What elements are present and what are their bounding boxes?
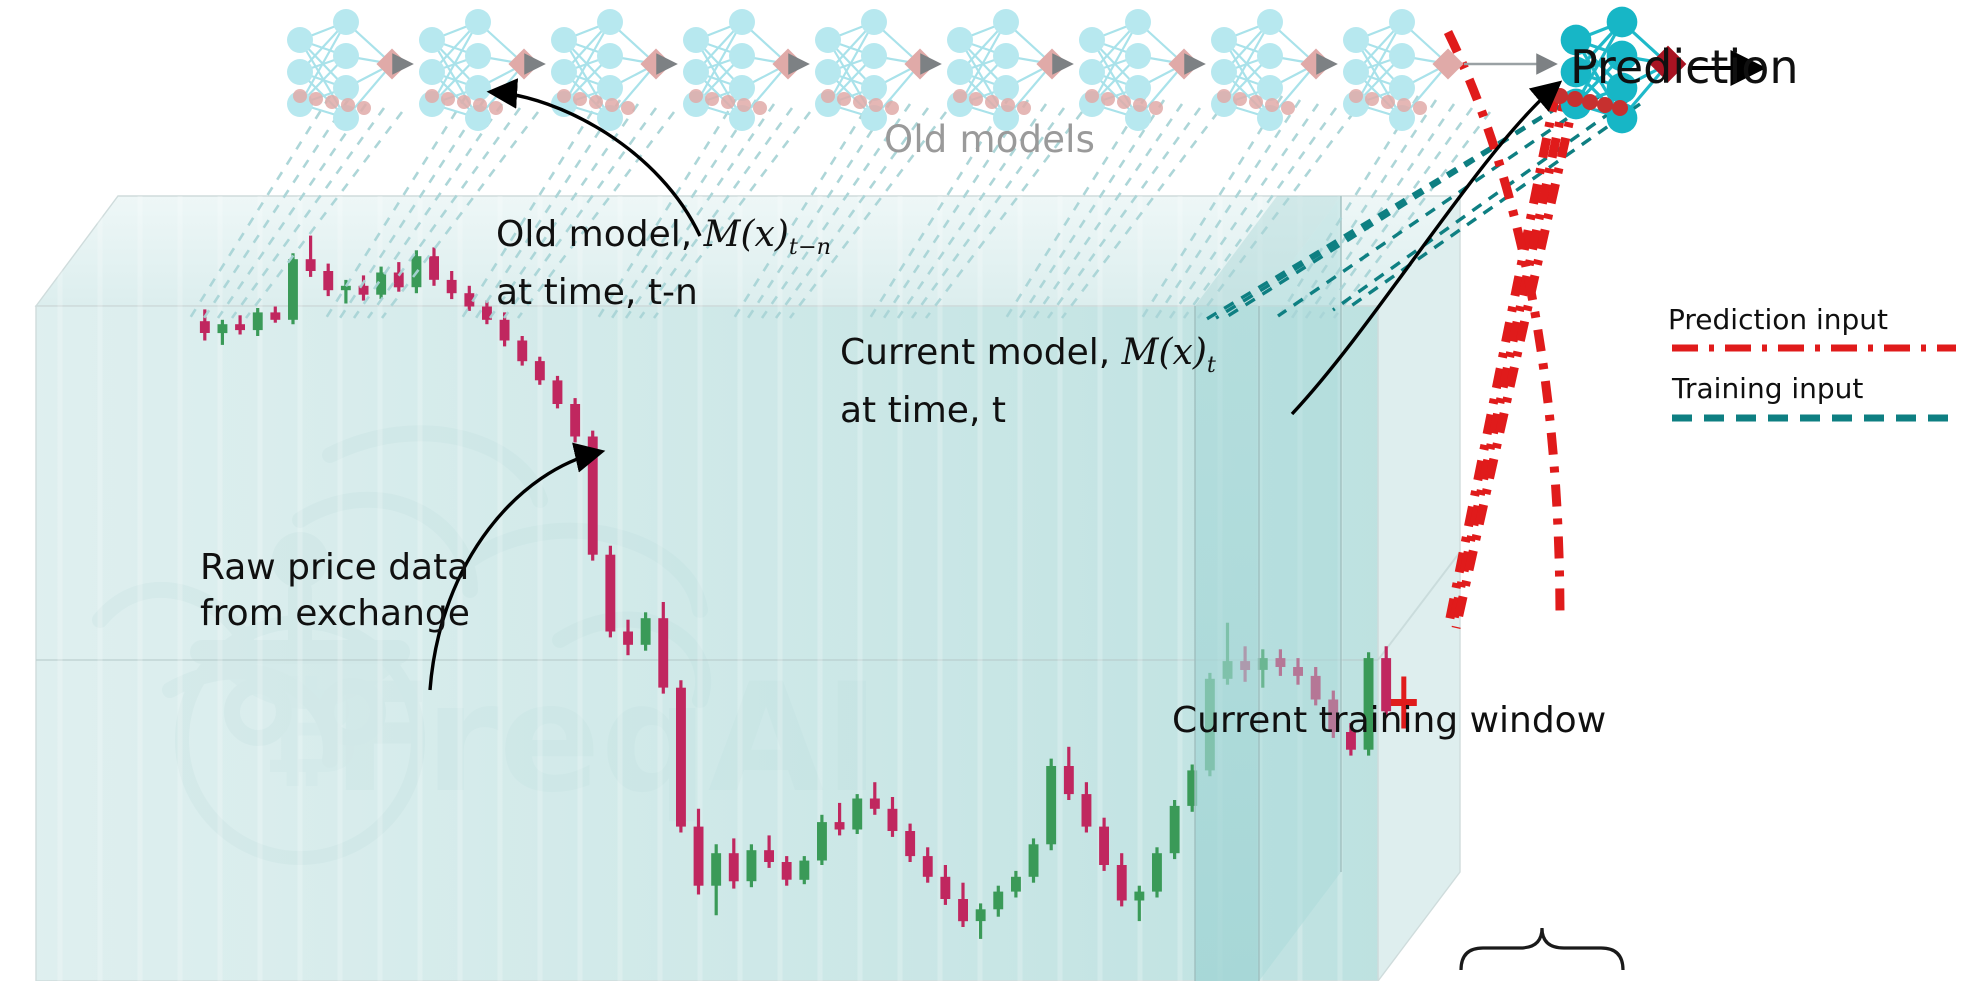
candle-body bbox=[641, 618, 651, 645]
legend-label-prediction-input: Prediction input bbox=[1668, 303, 1888, 336]
current-model-math-sub: t bbox=[1207, 352, 1216, 378]
candle-body bbox=[676, 688, 686, 827]
candle-body bbox=[429, 256, 439, 280]
candle-body bbox=[923, 856, 933, 877]
candle-body bbox=[447, 280, 457, 293]
model-chain bbox=[287, 7, 1686, 134]
candle-body bbox=[1029, 844, 1039, 877]
candle-body bbox=[729, 853, 739, 881]
candle-body bbox=[782, 862, 792, 880]
candle-body bbox=[1064, 766, 1074, 794]
training-window-brace bbox=[1461, 928, 1623, 970]
candle-body bbox=[799, 861, 809, 880]
current-training-window-label: Current training window bbox=[1172, 700, 1606, 741]
candle-body bbox=[1152, 853, 1162, 891]
candle-body bbox=[658, 618, 668, 687]
candle-body bbox=[253, 312, 263, 330]
raw-price-annotation: Raw price data from exchange bbox=[200, 545, 470, 637]
candle-body bbox=[870, 799, 880, 809]
candle-body bbox=[1134, 892, 1144, 901]
old-model-math-M: M bbox=[704, 214, 741, 255]
candle-body bbox=[976, 909, 986, 921]
candle-body bbox=[817, 822, 827, 860]
old-model-math-x: (x) bbox=[741, 214, 789, 255]
candle-body bbox=[1011, 877, 1021, 892]
current-model-math-x: (x) bbox=[1159, 332, 1207, 373]
candle-body bbox=[694, 827, 704, 886]
candle-body bbox=[835, 822, 845, 829]
legend-label-training-input: Training input bbox=[1672, 372, 1863, 405]
candle-body bbox=[605, 555, 615, 632]
old-model-network bbox=[419, 9, 542, 131]
candle-body bbox=[747, 850, 757, 881]
candle-body bbox=[993, 892, 1003, 910]
candle-body bbox=[218, 324, 228, 333]
current-model-math-M: M bbox=[1122, 332, 1159, 373]
candle-body bbox=[288, 259, 298, 320]
candle-body bbox=[958, 899, 968, 921]
candle-body bbox=[623, 632, 633, 645]
current-model-time: at time, t bbox=[840, 388, 1216, 434]
old-models-label: Old models bbox=[884, 118, 1095, 161]
candle-body bbox=[905, 831, 915, 856]
current-model-annotation: Current model, M(x)t at time, t bbox=[840, 330, 1216, 434]
old-model-network bbox=[815, 9, 938, 131]
old-model-network bbox=[947, 9, 1070, 131]
candle-body bbox=[1170, 806, 1180, 853]
candle-body bbox=[1117, 865, 1127, 901]
candle-body bbox=[500, 320, 510, 341]
old-model-text: Old model, bbox=[496, 214, 704, 255]
candle-body bbox=[235, 324, 245, 330]
candle-body bbox=[341, 286, 351, 290]
candle-body bbox=[517, 341, 527, 362]
candle-body bbox=[270, 312, 280, 319]
candle-body bbox=[535, 361, 545, 380]
old-model-network bbox=[1211, 9, 1334, 131]
candle-body bbox=[570, 404, 580, 437]
candle-body bbox=[323, 271, 333, 290]
old-model-annotation: Old model, M(x)t−n at time, t-n bbox=[496, 212, 831, 316]
candle-body bbox=[553, 380, 563, 404]
old-model-time: at time, t-n bbox=[496, 270, 831, 316]
candle-body bbox=[852, 799, 862, 830]
old-model-network bbox=[1079, 9, 1202, 131]
candle-body bbox=[888, 809, 898, 831]
current-training-window-highlight bbox=[1195, 196, 1341, 981]
current-model-text: Current model, bbox=[840, 332, 1122, 373]
candle-body bbox=[764, 850, 774, 862]
candle-body bbox=[200, 321, 210, 333]
raw-price-line1: Raw price data bbox=[200, 545, 470, 591]
candle-body bbox=[1046, 766, 1056, 844]
candle-body bbox=[711, 853, 721, 886]
raw-price-line2: from exchange bbox=[200, 591, 470, 637]
old-model-network bbox=[1343, 9, 1554, 131]
candle-body bbox=[1082, 794, 1092, 827]
old-model-math-sub: t−n bbox=[789, 234, 831, 260]
figure-root: FreqAI ₿ bbox=[0, 0, 1966, 981]
candle-body bbox=[306, 259, 316, 271]
candle-body bbox=[1099, 827, 1109, 865]
prediction-label: Prediction bbox=[1570, 40, 1799, 94]
candle-body bbox=[940, 877, 950, 899]
prediction-input-line bbox=[1448, 32, 1576, 628]
old-model-network bbox=[287, 9, 410, 131]
